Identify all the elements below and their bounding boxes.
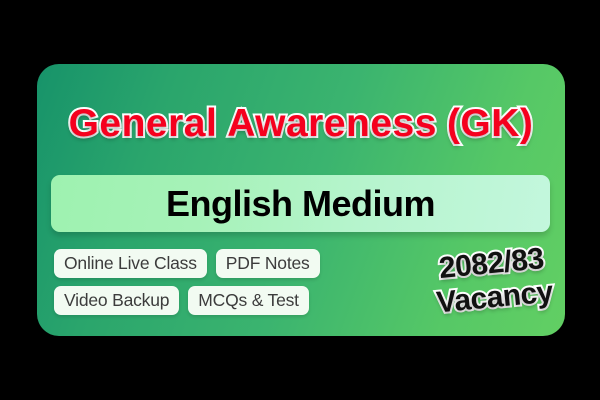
headline-paren-text: (GK) xyxy=(447,102,533,145)
vacancy-stamp: 2082/83 Vacancy xyxy=(416,240,565,321)
subtitle-text: English Medium xyxy=(166,186,435,222)
tag-pdf-notes: PDF Notes xyxy=(216,249,320,278)
promo-card: General Awareness(GK) English Medium Onl… xyxy=(37,64,565,336)
tag-mcqs-and-test: MCQs & Test xyxy=(188,286,309,315)
tag-video-backup: Video Backup xyxy=(54,286,179,315)
tag-online-live-class: Online Live Class xyxy=(54,249,207,278)
tag-row: Online Live Class PDF Notes xyxy=(54,249,414,278)
headline-title: General Awareness(GK) xyxy=(37,104,565,143)
promo-canvas: General Awareness(GK) English Medium Onl… xyxy=(0,0,600,400)
headline-main-text: General Awareness xyxy=(69,102,437,145)
subtitle-bar: English Medium xyxy=(51,175,550,232)
tag-row: Video Backup MCQs & Test xyxy=(54,286,414,315)
feature-tag-group: Online Live Class PDF Notes Video Backup… xyxy=(54,249,414,323)
